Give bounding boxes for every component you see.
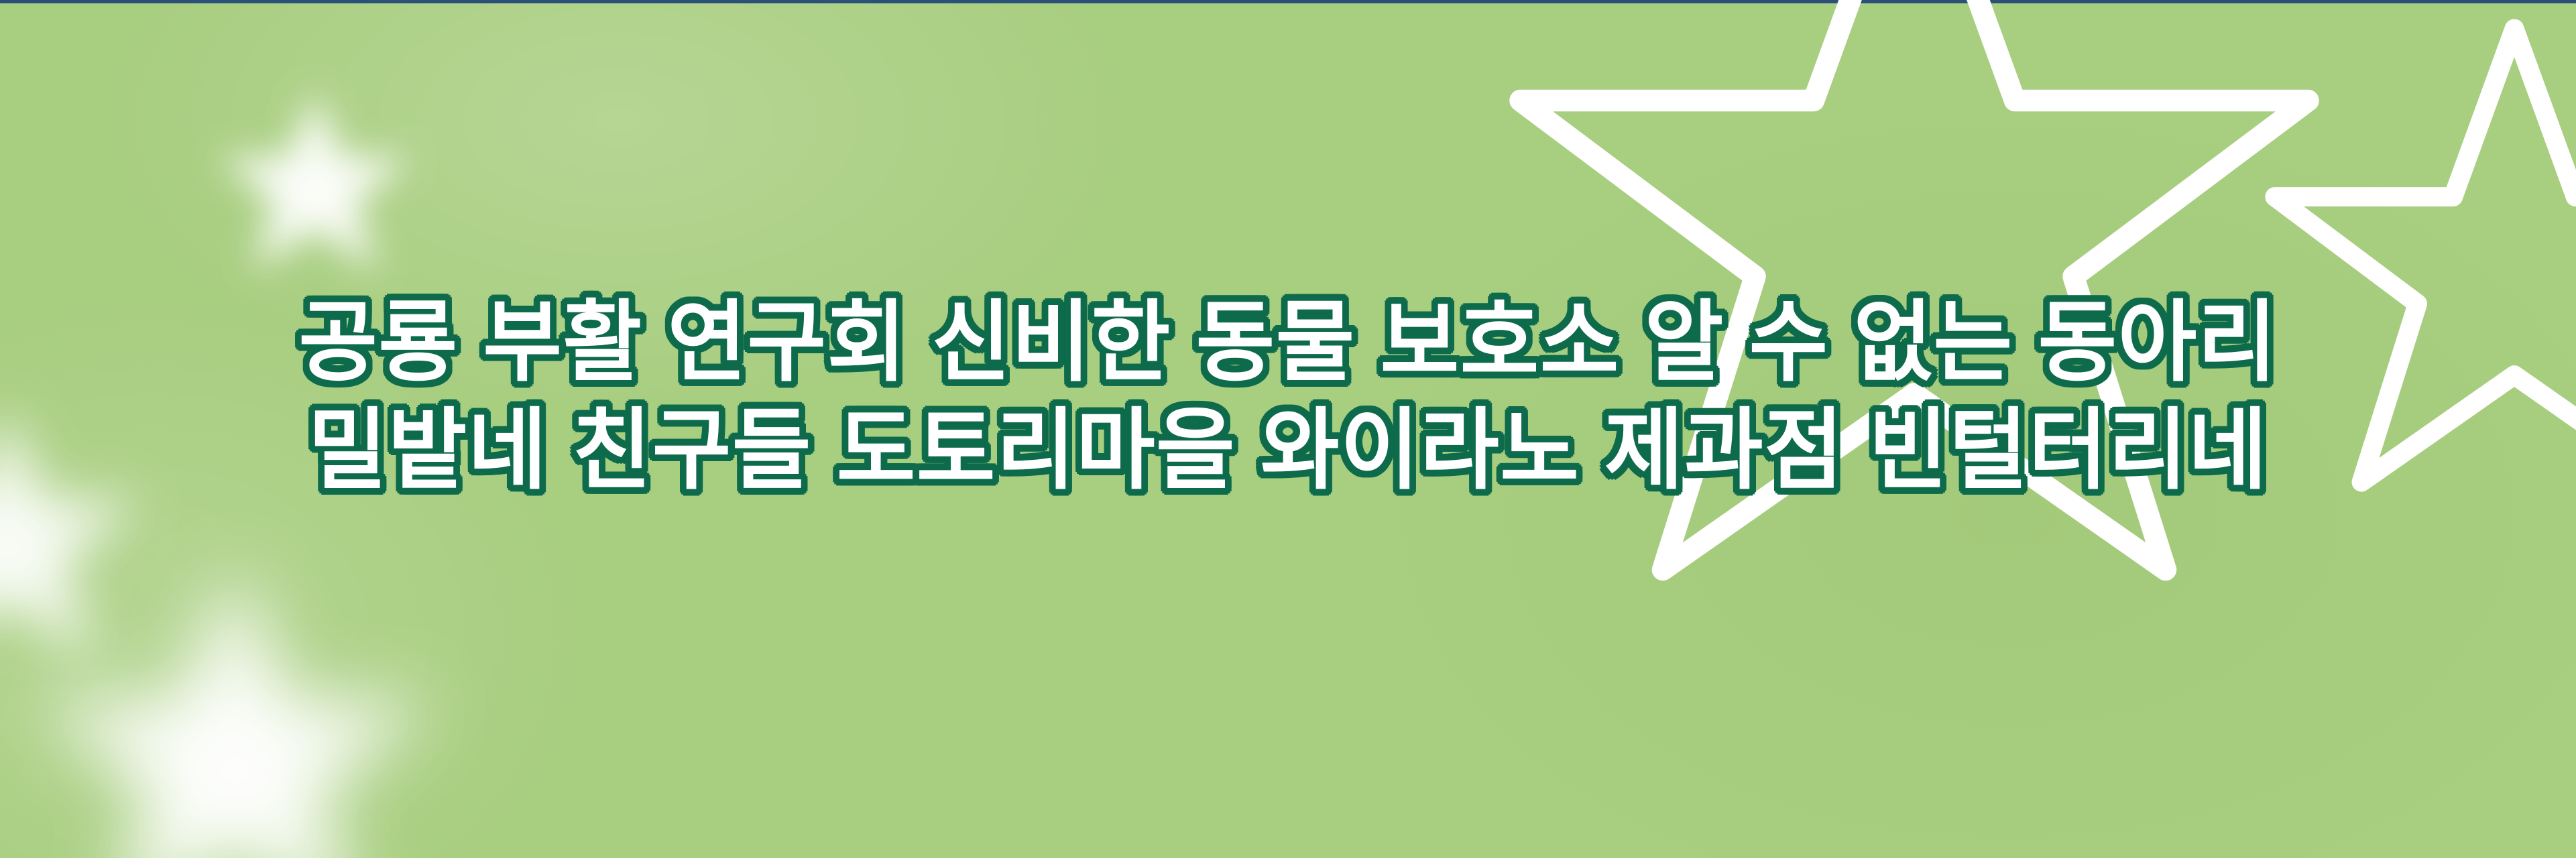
star-glow-lower-left-icon [27,556,443,858]
star-glow-edge-left-icon [0,402,148,684]
headline-line-2: 밀밭네 친구들 도토리마을 와이라노 제과점 빈털터리네 [39,396,2538,504]
banner-root: 공룡 부활 연구회 신비한 동물 보호소 알 수 없는 동아리 밀밭네 친구들 … [0,0,2576,858]
decoration-layer [0,0,2576,858]
background-sheen [0,0,2576,858]
star-outline-right-icon [2260,13,2576,523]
headline-block: 공룡 부활 연구회 신비한 동물 보호소 알 수 없는 동아리 밀밭네 친구들 … [0,288,2576,504]
star-outline-center-icon [1495,0,2333,637]
star-glow-upper-left-icon [215,87,416,288]
top-edge-rule [0,0,2576,3]
headline-line-1: 공룡 부활 연구회 신비한 동물 보호소 알 수 없는 동아리 [39,288,2538,396]
